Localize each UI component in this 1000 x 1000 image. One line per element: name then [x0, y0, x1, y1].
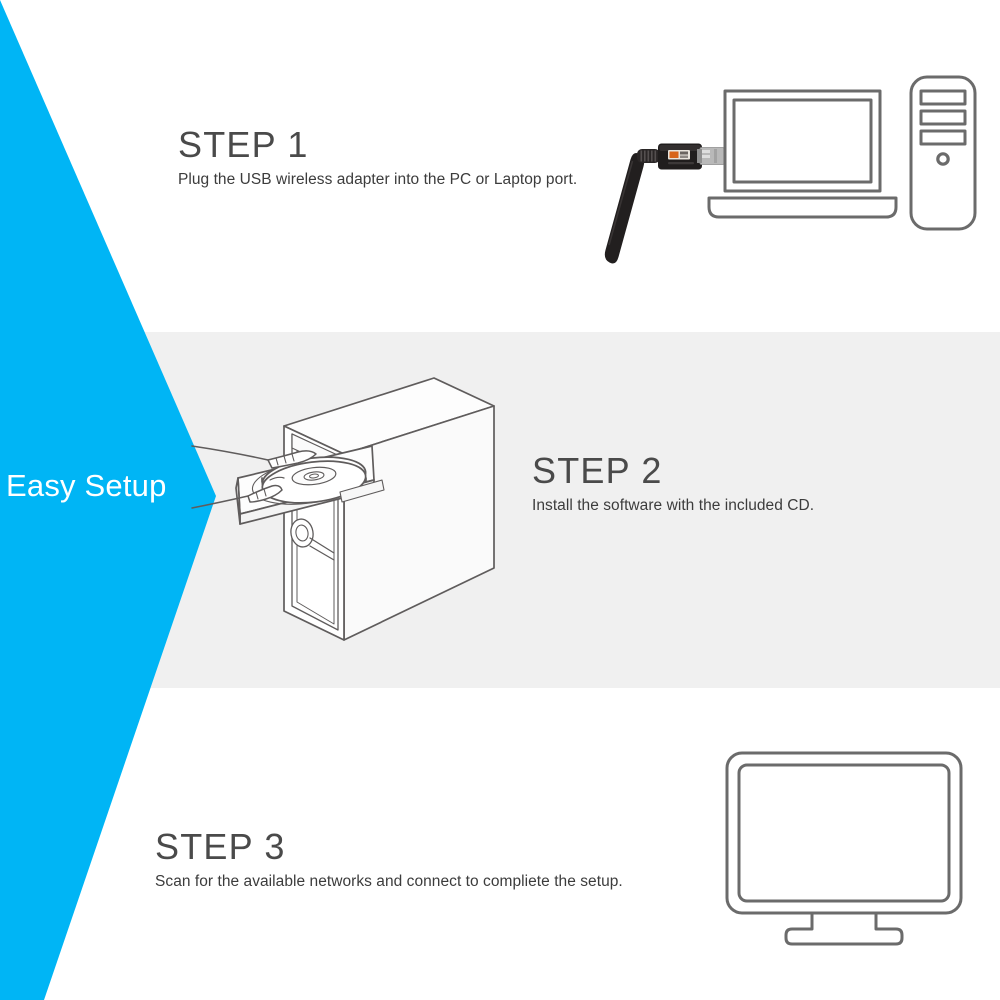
tower-3d-body	[284, 378, 494, 640]
step-3-description: Scan for the available networks and conn…	[155, 872, 623, 891]
step-2-description: Install the software with the included C…	[532, 496, 814, 515]
step-2-text-block: STEP 2 Install the software with the inc…	[532, 452, 814, 515]
laptop-base	[709, 198, 896, 217]
easy-setup-label: Easy Setup	[6, 470, 201, 501]
power-button	[938, 154, 948, 164]
monitor-stand	[786, 913, 902, 944]
monitor-screen	[739, 765, 949, 901]
laptop-icon	[706, 86, 901, 231]
drive-bay-3	[921, 131, 965, 144]
step-1-description: Plug the USB wireless adapter into the P…	[178, 170, 577, 189]
step-2-title: STEP 2	[532, 452, 814, 490]
step-1-title: STEP 1	[178, 126, 577, 164]
step-1-text-block: STEP 1 Plug the USB wireless adapter int…	[178, 126, 577, 189]
desktop-tower-icon	[908, 74, 990, 234]
easy-setup-infographic: Easy Setup STEP 1 Plug the USB wireless …	[0, 0, 1000, 1000]
drive-bay-1	[921, 91, 965, 104]
antenna-hinge	[637, 149, 660, 163]
pc-tower-cd-tray-icon	[222, 368, 522, 658]
step-3-title: STEP 3	[155, 828, 623, 866]
laptop-screen	[734, 100, 871, 182]
monitor-bezel	[727, 753, 961, 913]
drive-bay-2	[921, 111, 965, 124]
adapter-body	[658, 144, 702, 170]
antenna	[605, 153, 644, 263]
laptop-lid	[725, 91, 880, 191]
monitor-icon	[698, 748, 990, 958]
step-3-text-block: STEP 3 Scan for the available networks a…	[155, 828, 623, 891]
